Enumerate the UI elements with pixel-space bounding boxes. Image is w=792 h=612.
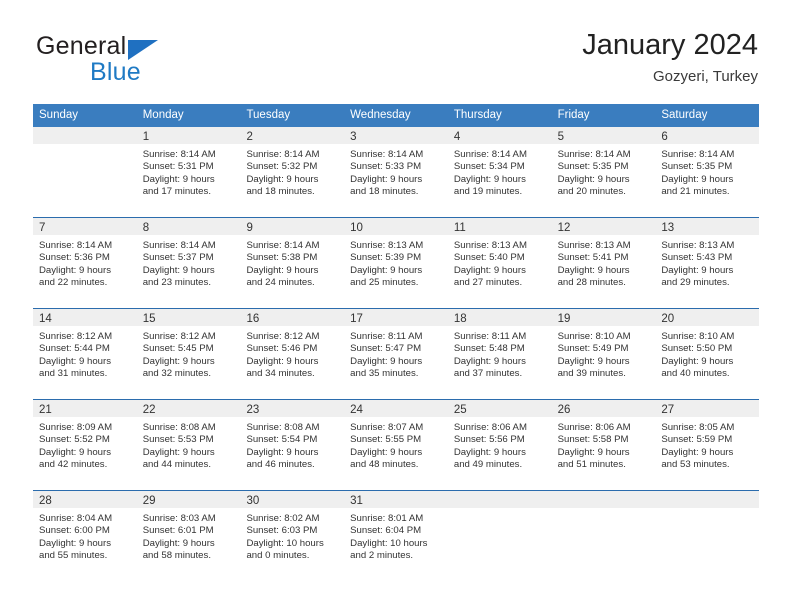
weekday-header-tuesday: Tuesday: [240, 104, 344, 127]
logo-text-general: General: [36, 32, 126, 61]
daylight-duration-line-2: and 44 minutes.: [143, 459, 233, 471]
day-number: 23: [246, 402, 259, 419]
daylight-duration-line-2: and 22 minutes.: [39, 277, 129, 289]
day-number-band: 24: [344, 400, 448, 417]
sunset-time: Sunset: 5:35 PM: [558, 161, 648, 173]
day-details: Sunrise: 8:11 AMSunset: 5:48 PMDaylight:…: [448, 326, 552, 399]
calendar-day-cell[interactable]: 7Sunrise: 8:14 AMSunset: 5:36 PMDaylight…: [33, 218, 137, 308]
daylight-duration-line-1: Daylight: 9 hours: [246, 265, 336, 277]
day-number: 18: [454, 311, 467, 328]
sunrise-time: Sunrise: 8:08 AM: [246, 422, 336, 434]
day-details: [33, 144, 137, 217]
daylight-duration-line-2: and 18 minutes.: [246, 186, 336, 198]
sunset-time: Sunset: 5:36 PM: [39, 252, 129, 264]
day-number-band: 5: [552, 127, 656, 144]
sunrise-time: Sunrise: 8:11 AM: [454, 331, 544, 343]
sunset-time: Sunset: 5:35 PM: [661, 161, 751, 173]
daylight-duration-line-1: Daylight: 9 hours: [661, 356, 751, 368]
sunset-time: Sunset: 5:59 PM: [661, 434, 751, 446]
day-details: Sunrise: 8:03 AMSunset: 6:01 PMDaylight:…: [137, 508, 241, 581]
sunset-time: Sunset: 5:55 PM: [350, 434, 440, 446]
sunrise-time: Sunrise: 8:13 AM: [350, 240, 440, 252]
daylight-duration-line-1: Daylight: 9 hours: [454, 447, 544, 459]
day-number: 26: [558, 402, 571, 419]
day-details: Sunrise: 8:12 AMSunset: 5:44 PMDaylight:…: [33, 326, 137, 399]
logo-triangle-icon: [128, 40, 158, 60]
sunset-time: Sunset: 5:44 PM: [39, 343, 129, 355]
logo-text-blue: Blue: [90, 58, 141, 87]
day-details: Sunrise: 8:14 AMSunset: 5:33 PMDaylight:…: [344, 144, 448, 217]
calendar-day-cell-empty: [655, 491, 759, 581]
sunset-time: Sunset: 5:34 PM: [454, 161, 544, 173]
day-number-band: 6: [655, 127, 759, 144]
day-details: Sunrise: 8:07 AMSunset: 5:55 PMDaylight:…: [344, 417, 448, 490]
daylight-duration-line-1: Daylight: 9 hours: [661, 174, 751, 186]
calendar-day-cell[interactable]: 16Sunrise: 8:12 AMSunset: 5:46 PMDayligh…: [240, 309, 344, 399]
day-details: Sunrise: 8:01 AMSunset: 6:04 PMDaylight:…: [344, 508, 448, 581]
day-number: 1: [143, 129, 149, 146]
sunset-time: Sunset: 5:33 PM: [350, 161, 440, 173]
day-number: 22: [143, 402, 156, 419]
sunrise-time: Sunrise: 8:01 AM: [350, 513, 440, 525]
day-number: 24: [350, 402, 363, 419]
daylight-duration-line-1: Daylight: 9 hours: [350, 447, 440, 459]
day-details: Sunrise: 8:02 AMSunset: 6:03 PMDaylight:…: [240, 508, 344, 581]
day-details: Sunrise: 8:11 AMSunset: 5:47 PMDaylight:…: [344, 326, 448, 399]
day-number: 29: [143, 493, 156, 510]
day-details: Sunrise: 8:14 AMSunset: 5:38 PMDaylight:…: [240, 235, 344, 308]
daylight-duration-line-2: and 39 minutes.: [558, 368, 648, 380]
day-number-band: 23: [240, 400, 344, 417]
page-subtitle-location: Gozyeri, Turkey: [582, 66, 758, 88]
sunset-time: Sunset: 6:03 PM: [246, 525, 336, 537]
calendar-day-cell-empty: [552, 491, 656, 581]
day-number-band: 26: [552, 400, 656, 417]
calendar-day-cell[interactable]: 12Sunrise: 8:13 AMSunset: 5:41 PMDayligh…: [552, 218, 656, 308]
sunrise-time: Sunrise: 8:12 AM: [143, 331, 233, 343]
daylight-duration-line-2: and 18 minutes.: [350, 186, 440, 198]
daylight-duration-line-1: Daylight: 9 hours: [246, 174, 336, 186]
daylight-duration-line-1: Daylight: 9 hours: [558, 174, 648, 186]
day-number-band: 25: [448, 400, 552, 417]
calendar-day-cell[interactable]: 4Sunrise: 8:14 AMSunset: 5:34 PMDaylight…: [448, 127, 552, 217]
calendar-grid: Sunday Monday Tuesday Wednesday Thursday…: [33, 104, 759, 581]
day-number-band: 17: [344, 309, 448, 326]
sunset-time: Sunset: 5:47 PM: [350, 343, 440, 355]
day-number-band: 30: [240, 491, 344, 508]
daylight-duration-line-1: Daylight: 9 hours: [454, 174, 544, 186]
calendar-day-cell[interactable]: 18Sunrise: 8:11 AMSunset: 5:48 PMDayligh…: [448, 309, 552, 399]
calendar-day-cell[interactable]: 29Sunrise: 8:03 AMSunset: 6:01 PMDayligh…: [137, 491, 241, 581]
daylight-duration-line-2: and 32 minutes.: [143, 368, 233, 380]
calendar-day-cell[interactable]: 14Sunrise: 8:12 AMSunset: 5:44 PMDayligh…: [33, 309, 137, 399]
daylight-duration-line-2: and 28 minutes.: [558, 277, 648, 289]
day-details: [655, 508, 759, 581]
weekday-header-thursday: Thursday: [448, 104, 552, 127]
daylight-duration-line-2: and 0 minutes.: [246, 550, 336, 562]
sunset-time: Sunset: 5:54 PM: [246, 434, 336, 446]
day-details: Sunrise: 8:14 AMSunset: 5:37 PMDaylight:…: [137, 235, 241, 308]
calendar-day-cell[interactable]: 21Sunrise: 8:09 AMSunset: 5:52 PMDayligh…: [33, 400, 137, 490]
calendar-day-cell[interactable]: 9Sunrise: 8:14 AMSunset: 5:38 PMDaylight…: [240, 218, 344, 308]
sunset-time: Sunset: 5:43 PM: [661, 252, 751, 264]
day-number-band: 20: [655, 309, 759, 326]
weekday-header-monday: Monday: [137, 104, 241, 127]
daylight-duration-line-1: Daylight: 9 hours: [246, 356, 336, 368]
daylight-duration-line-1: Daylight: 9 hours: [39, 538, 129, 550]
day-number: 13: [661, 220, 674, 237]
day-details: Sunrise: 8:14 AMSunset: 5:32 PMDaylight:…: [240, 144, 344, 217]
sunrise-time: Sunrise: 8:07 AM: [350, 422, 440, 434]
calendar-day-cell[interactable]: 22Sunrise: 8:08 AMSunset: 5:53 PMDayligh…: [137, 400, 241, 490]
weekday-header-saturday: Saturday: [655, 104, 759, 127]
day-number-band: 1: [137, 127, 241, 144]
daylight-duration-line-1: Daylight: 9 hours: [143, 174, 233, 186]
daylight-duration-line-1: Daylight: 9 hours: [558, 265, 648, 277]
daylight-duration-line-2: and 37 minutes.: [454, 368, 544, 380]
day-number: 7: [39, 220, 45, 237]
calendar-day-cell-empty: [448, 491, 552, 581]
daylight-duration-line-2: and 46 minutes.: [246, 459, 336, 471]
daylight-duration-line-1: Daylight: 9 hours: [143, 356, 233, 368]
sunrise-time: Sunrise: 8:08 AM: [143, 422, 233, 434]
sunrise-time: Sunrise: 8:13 AM: [558, 240, 648, 252]
day-details: Sunrise: 8:13 AMSunset: 5:39 PMDaylight:…: [344, 235, 448, 308]
day-details: Sunrise: 8:08 AMSunset: 5:53 PMDaylight:…: [137, 417, 241, 490]
day-number: 28: [39, 493, 52, 510]
daylight-duration-line-1: Daylight: 9 hours: [558, 447, 648, 459]
day-details: Sunrise: 8:10 AMSunset: 5:50 PMDaylight:…: [655, 326, 759, 399]
daylight-duration-line-2: and 24 minutes.: [246, 277, 336, 289]
sunrise-time: Sunrise: 8:10 AM: [558, 331, 648, 343]
page-header: General Blue January 2024 Gozyeri, Turke…: [34, 28, 758, 94]
day-number-band: 7: [33, 218, 137, 235]
day-number-band: 21: [33, 400, 137, 417]
weekday-header-wednesday: Wednesday: [344, 104, 448, 127]
sunrise-time: Sunrise: 8:12 AM: [246, 331, 336, 343]
sunset-time: Sunset: 5:52 PM: [39, 434, 129, 446]
calendar-day-cell[interactable]: 6Sunrise: 8:14 AMSunset: 5:35 PMDaylight…: [655, 127, 759, 217]
day-number-band: 12: [552, 218, 656, 235]
sunrise-time: Sunrise: 8:14 AM: [661, 149, 751, 161]
day-details: Sunrise: 8:12 AMSunset: 5:45 PMDaylight:…: [137, 326, 241, 399]
sunrise-time: Sunrise: 8:13 AM: [661, 240, 751, 252]
sunset-time: Sunset: 5:32 PM: [246, 161, 336, 173]
day-number: 4: [454, 129, 460, 146]
day-number-band: 8: [137, 218, 241, 235]
daylight-duration-line-2: and 58 minutes.: [143, 550, 233, 562]
day-number-band: 3: [344, 127, 448, 144]
daylight-duration-line-1: Daylight: 9 hours: [143, 265, 233, 277]
day-number: 21: [39, 402, 52, 419]
day-number: 31: [350, 493, 363, 510]
day-number: 8: [143, 220, 149, 237]
daylight-duration-line-1: Daylight: 9 hours: [661, 447, 751, 459]
sunrise-time: Sunrise: 8:14 AM: [454, 149, 544, 161]
daylight-duration-line-2: and 48 minutes.: [350, 459, 440, 471]
day-number-band: [552, 491, 656, 508]
sunset-time: Sunset: 5:37 PM: [143, 252, 233, 264]
day-number-band: 29: [137, 491, 241, 508]
calendar-week-row: 7Sunrise: 8:14 AMSunset: 5:36 PMDaylight…: [33, 217, 759, 308]
calendar-day-cell[interactable]: 2Sunrise: 8:14 AMSunset: 5:32 PMDaylight…: [240, 127, 344, 217]
day-details: Sunrise: 8:13 AMSunset: 5:43 PMDaylight:…: [655, 235, 759, 308]
calendar-week-row: 28Sunrise: 8:04 AMSunset: 6:00 PMDayligh…: [33, 490, 759, 581]
sunset-time: Sunset: 6:00 PM: [39, 525, 129, 537]
daylight-duration-line-1: Daylight: 9 hours: [350, 174, 440, 186]
weekday-header-friday: Friday: [552, 104, 656, 127]
daylight-duration-line-1: Daylight: 9 hours: [454, 356, 544, 368]
day-details: Sunrise: 8:14 AMSunset: 5:35 PMDaylight:…: [552, 144, 656, 217]
calendar-weeks: 1Sunrise: 8:14 AMSunset: 5:31 PMDaylight…: [33, 127, 759, 581]
day-details: Sunrise: 8:14 AMSunset: 5:36 PMDaylight:…: [33, 235, 137, 308]
day-details: Sunrise: 8:09 AMSunset: 5:52 PMDaylight:…: [33, 417, 137, 490]
sunrise-time: Sunrise: 8:14 AM: [558, 149, 648, 161]
day-number-band: 13: [655, 218, 759, 235]
daylight-duration-line-1: Daylight: 9 hours: [246, 447, 336, 459]
sunrise-time: Sunrise: 8:10 AM: [661, 331, 751, 343]
day-number-band: 10: [344, 218, 448, 235]
day-details: Sunrise: 8:05 AMSunset: 5:59 PMDaylight:…: [655, 417, 759, 490]
day-number-band: 22: [137, 400, 241, 417]
calendar-day-cell[interactable]: 8Sunrise: 8:14 AMSunset: 5:37 PMDaylight…: [137, 218, 241, 308]
daylight-duration-line-2: and 29 minutes.: [661, 277, 751, 289]
day-number-band: 14: [33, 309, 137, 326]
day-details: Sunrise: 8:14 AMSunset: 5:34 PMDaylight:…: [448, 144, 552, 217]
daylight-duration-line-1: Daylight: 9 hours: [350, 356, 440, 368]
calendar-week-row: 14Sunrise: 8:12 AMSunset: 5:44 PMDayligh…: [33, 308, 759, 399]
day-number: 2: [246, 129, 252, 146]
calendar-day-cell[interactable]: 20Sunrise: 8:10 AMSunset: 5:50 PMDayligh…: [655, 309, 759, 399]
day-number: 17: [350, 311, 363, 328]
daylight-duration-line-1: Daylight: 9 hours: [661, 265, 751, 277]
day-number: 14: [39, 311, 52, 328]
sunset-time: Sunset: 5:56 PM: [454, 434, 544, 446]
calendar-day-cell[interactable]: 17Sunrise: 8:11 AMSunset: 5:47 PMDayligh…: [344, 309, 448, 399]
sunset-time: Sunset: 5:39 PM: [350, 252, 440, 264]
calendar-day-cell[interactable]: 5Sunrise: 8:14 AMSunset: 5:35 PMDaylight…: [552, 127, 656, 217]
sunset-time: Sunset: 5:50 PM: [661, 343, 751, 355]
daylight-duration-line-1: Daylight: 9 hours: [39, 356, 129, 368]
daylight-duration-line-2: and 55 minutes.: [39, 550, 129, 562]
day-number-band: [655, 491, 759, 508]
day-number-band: 31: [344, 491, 448, 508]
daylight-duration-line-1: Daylight: 9 hours: [454, 265, 544, 277]
sunrise-time: Sunrise: 8:06 AM: [558, 422, 648, 434]
daylight-duration-line-1: Daylight: 9 hours: [558, 356, 648, 368]
day-details: Sunrise: 8:06 AMSunset: 5:56 PMDaylight:…: [448, 417, 552, 490]
day-details: [448, 508, 552, 581]
sunrise-time: Sunrise: 8:04 AM: [39, 513, 129, 525]
calendar-day-cell[interactable]: 19Sunrise: 8:10 AMSunset: 5:49 PMDayligh…: [552, 309, 656, 399]
day-number-band: 27: [655, 400, 759, 417]
day-number-band: 18: [448, 309, 552, 326]
calendar-day-cell[interactable]: 24Sunrise: 8:07 AMSunset: 5:55 PMDayligh…: [344, 400, 448, 490]
calendar-day-cell-empty: [33, 127, 137, 217]
sunset-time: Sunset: 5:38 PM: [246, 252, 336, 264]
calendar-day-cell[interactable]: 26Sunrise: 8:06 AMSunset: 5:58 PMDayligh…: [552, 400, 656, 490]
sunrise-time: Sunrise: 8:14 AM: [246, 240, 336, 252]
sunset-time: Sunset: 5:53 PM: [143, 434, 233, 446]
calendar-day-cell[interactable]: 1Sunrise: 8:14 AMSunset: 5:31 PMDaylight…: [137, 127, 241, 217]
calendar-day-cell[interactable]: 31Sunrise: 8:01 AMSunset: 6:04 PMDayligh…: [344, 491, 448, 581]
daylight-duration-line-2: and 20 minutes.: [558, 186, 648, 198]
day-details: Sunrise: 8:13 AMSunset: 5:41 PMDaylight:…: [552, 235, 656, 308]
day-details: Sunrise: 8:04 AMSunset: 6:00 PMDaylight:…: [33, 508, 137, 581]
calendar-day-cell[interactable]: 27Sunrise: 8:05 AMSunset: 5:59 PMDayligh…: [655, 400, 759, 490]
sunrise-time: Sunrise: 8:14 AM: [143, 149, 233, 161]
day-number: 20: [661, 311, 674, 328]
daylight-duration-line-2: and 23 minutes.: [143, 277, 233, 289]
day-number-band: 16: [240, 309, 344, 326]
day-number: 15: [143, 311, 156, 328]
daylight-duration-line-2: and 17 minutes.: [143, 186, 233, 198]
page-title: January 2024: [582, 28, 758, 62]
day-details: [552, 508, 656, 581]
day-number: 5: [558, 129, 564, 146]
day-number-band: [448, 491, 552, 508]
sunrise-time: Sunrise: 8:13 AM: [454, 240, 544, 252]
sunrise-time: Sunrise: 8:14 AM: [246, 149, 336, 161]
sunrise-time: Sunrise: 8:12 AM: [39, 331, 129, 343]
daylight-duration-line-2: and 21 minutes.: [661, 186, 751, 198]
sunset-time: Sunset: 5:45 PM: [143, 343, 233, 355]
daylight-duration-line-1: Daylight: 10 hours: [246, 538, 336, 550]
general-blue-logo[interactable]: General Blue: [34, 28, 284, 88]
daylight-duration-line-2: and 25 minutes.: [350, 277, 440, 289]
day-number: 9: [246, 220, 252, 237]
day-details: Sunrise: 8:14 AMSunset: 5:31 PMDaylight:…: [137, 144, 241, 217]
calendar-week-row: 1Sunrise: 8:14 AMSunset: 5:31 PMDaylight…: [33, 127, 759, 217]
day-details: Sunrise: 8:10 AMSunset: 5:49 PMDaylight:…: [552, 326, 656, 399]
daylight-duration-line-2: and 34 minutes.: [246, 368, 336, 380]
sunrise-time: Sunrise: 8:14 AM: [39, 240, 129, 252]
calendar-page: General Blue January 2024 Gozyeri, Turke…: [0, 0, 792, 612]
sunrise-time: Sunrise: 8:14 AM: [350, 149, 440, 161]
day-number: 25: [454, 402, 467, 419]
weekday-header-sunday: Sunday: [33, 104, 137, 127]
weekday-header-row: Sunday Monday Tuesday Wednesday Thursday…: [33, 104, 759, 127]
daylight-duration-line-2: and 51 minutes.: [558, 459, 648, 471]
sunrise-time: Sunrise: 8:11 AM: [350, 331, 440, 343]
sunset-time: Sunset: 5:48 PM: [454, 343, 544, 355]
daylight-duration-line-2: and 19 minutes.: [454, 186, 544, 198]
calendar-day-cell[interactable]: 23Sunrise: 8:08 AMSunset: 5:54 PMDayligh…: [240, 400, 344, 490]
sunset-time: Sunset: 5:46 PM: [246, 343, 336, 355]
calendar-day-cell[interactable]: 25Sunrise: 8:06 AMSunset: 5:56 PMDayligh…: [448, 400, 552, 490]
sunrise-time: Sunrise: 8:05 AM: [661, 422, 751, 434]
calendar-day-cell[interactable]: 3Sunrise: 8:14 AMSunset: 5:33 PMDaylight…: [344, 127, 448, 217]
day-number: 6: [661, 129, 667, 146]
calendar-day-cell[interactable]: 28Sunrise: 8:04 AMSunset: 6:00 PMDayligh…: [33, 491, 137, 581]
sunset-time: Sunset: 5:41 PM: [558, 252, 648, 264]
day-details: Sunrise: 8:08 AMSunset: 5:54 PMDaylight:…: [240, 417, 344, 490]
daylight-duration-line-2: and 42 minutes.: [39, 459, 129, 471]
day-details: Sunrise: 8:13 AMSunset: 5:40 PMDaylight:…: [448, 235, 552, 308]
day-number-band: 2: [240, 127, 344, 144]
sunrise-time: Sunrise: 8:14 AM: [143, 240, 233, 252]
day-number-band: 19: [552, 309, 656, 326]
daylight-duration-line-1: Daylight: 9 hours: [143, 538, 233, 550]
daylight-duration-line-1: Daylight: 9 hours: [39, 447, 129, 459]
day-details: Sunrise: 8:12 AMSunset: 5:46 PMDaylight:…: [240, 326, 344, 399]
sunset-time: Sunset: 5:58 PM: [558, 434, 648, 446]
sunrise-time: Sunrise: 8:06 AM: [454, 422, 544, 434]
sunset-time: Sunset: 6:01 PM: [143, 525, 233, 537]
calendar-day-cell[interactable]: 13Sunrise: 8:13 AMSunset: 5:43 PMDayligh…: [655, 218, 759, 308]
day-number: 30: [246, 493, 259, 510]
day-number: 16: [246, 311, 259, 328]
day-number: 10: [350, 220, 363, 237]
daylight-duration-line-1: Daylight: 9 hours: [39, 265, 129, 277]
day-number-band: [33, 127, 137, 144]
daylight-duration-line-1: Daylight: 10 hours: [350, 538, 440, 550]
daylight-duration-line-1: Daylight: 9 hours: [350, 265, 440, 277]
day-number-band: 9: [240, 218, 344, 235]
sunrise-time: Sunrise: 8:09 AM: [39, 422, 129, 434]
day-number: 19: [558, 311, 571, 328]
sunset-time: Sunset: 5:40 PM: [454, 252, 544, 264]
daylight-duration-line-2: and 35 minutes.: [350, 368, 440, 380]
calendar-day-cell[interactable]: 11Sunrise: 8:13 AMSunset: 5:40 PMDayligh…: [448, 218, 552, 308]
day-details: Sunrise: 8:06 AMSunset: 5:58 PMDaylight:…: [552, 417, 656, 490]
calendar-day-cell[interactable]: 15Sunrise: 8:12 AMSunset: 5:45 PMDayligh…: [137, 309, 241, 399]
sunset-time: Sunset: 5:31 PM: [143, 161, 233, 173]
daylight-duration-line-2: and 31 minutes.: [39, 368, 129, 380]
day-number-band: 15: [137, 309, 241, 326]
day-number-band: 4: [448, 127, 552, 144]
daylight-duration-line-2: and 27 minutes.: [454, 277, 544, 289]
day-number: 3: [350, 129, 356, 146]
day-number: 11: [454, 220, 466, 237]
day-number-band: 11: [448, 218, 552, 235]
daylight-duration-line-2: and 53 minutes.: [661, 459, 751, 471]
daylight-duration-line-2: and 49 minutes.: [454, 459, 544, 471]
day-details: Sunrise: 8:14 AMSunset: 5:35 PMDaylight:…: [655, 144, 759, 217]
calendar-week-row: 21Sunrise: 8:09 AMSunset: 5:52 PMDayligh…: [33, 399, 759, 490]
daylight-duration-line-2: and 2 minutes.: [350, 550, 440, 562]
sunset-time: Sunset: 6:04 PM: [350, 525, 440, 537]
sunset-time: Sunset: 5:49 PM: [558, 343, 648, 355]
calendar-day-cell[interactable]: 10Sunrise: 8:13 AMSunset: 5:39 PMDayligh…: [344, 218, 448, 308]
day-number-band: 28: [33, 491, 137, 508]
daylight-duration-line-2: and 40 minutes.: [661, 368, 751, 380]
title-block: January 2024 Gozyeri, Turkey: [582, 28, 758, 88]
sunrise-time: Sunrise: 8:03 AM: [143, 513, 233, 525]
day-number: 12: [558, 220, 571, 237]
day-number: 27: [661, 402, 674, 419]
daylight-duration-line-1: Daylight: 9 hours: [143, 447, 233, 459]
sunrise-time: Sunrise: 8:02 AM: [246, 513, 336, 525]
calendar-day-cell[interactable]: 30Sunrise: 8:02 AMSunset: 6:03 PMDayligh…: [240, 491, 344, 581]
